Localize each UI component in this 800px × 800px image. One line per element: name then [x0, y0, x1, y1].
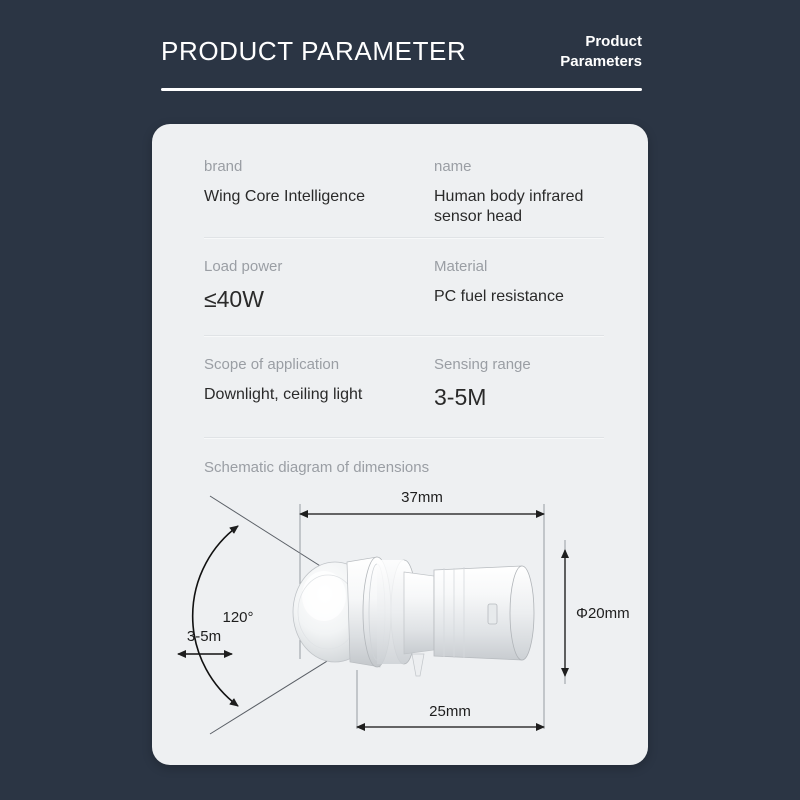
header-subtitle: Product Parameters	[560, 32, 642, 73]
page-title: PRODUCT PARAMETER	[161, 36, 466, 67]
spec-value: Wing Core Intelligence	[204, 187, 404, 207]
sensor-product-image	[293, 557, 534, 676]
spec-cell-load-power: Load power ≤40W	[204, 258, 404, 311]
spec-cell-name: name Human body infrared sensor head	[434, 158, 629, 226]
width-top-label: 37mm	[401, 489, 443, 506]
width-bottom-label: 25mm	[429, 703, 471, 720]
spec-label: Material	[434, 258, 629, 276]
header-divider	[161, 88, 642, 91]
row-divider	[204, 437, 604, 438]
range-label: 3-5m	[187, 628, 221, 645]
spec-value: Human body infrared sensor head	[434, 187, 629, 226]
spec-cell-sensing-range: Sensing range 3-5M	[434, 356, 629, 409]
spec-cell-brand: brand Wing Core Intelligence	[204, 158, 404, 207]
spec-value: ≤40W	[204, 287, 404, 311]
housing-slot	[488, 604, 497, 624]
spec-value: Downlight, ceiling light	[204, 385, 404, 405]
spec-label: Sensing range	[434, 356, 629, 374]
spec-label: brand	[204, 158, 404, 176]
spec-value: 3-5M	[434, 385, 629, 409]
spec-label: Load power	[204, 258, 404, 276]
header-subtitle-line2: Parameters	[560, 53, 642, 70]
page-header: PRODUCT PARAMETER Product Parameters	[161, 30, 642, 92]
diameter-label: Φ20mm	[576, 605, 630, 622]
spec-label: name	[434, 158, 629, 176]
spec-label: Scope of application	[204, 356, 404, 374]
parameter-card: brand Wing Core Intelligence name Human …	[152, 124, 648, 765]
header-subtitle-line1: Product	[585, 33, 642, 50]
schematic-title: Schematic diagram of dimensions	[204, 459, 429, 476]
spec-value: PC fuel resistance	[434, 287, 629, 307]
spec-cell-scope: Scope of application Downlight, ceiling …	[204, 356, 404, 405]
spec-cell-material: Material PC fuel resistance	[434, 258, 629, 307]
angle-label: 120°	[222, 609, 253, 626]
dimension-diagram: 120° 3-5m 37mm	[172, 484, 632, 749]
row-divider	[204, 237, 604, 238]
row-divider	[204, 335, 604, 336]
